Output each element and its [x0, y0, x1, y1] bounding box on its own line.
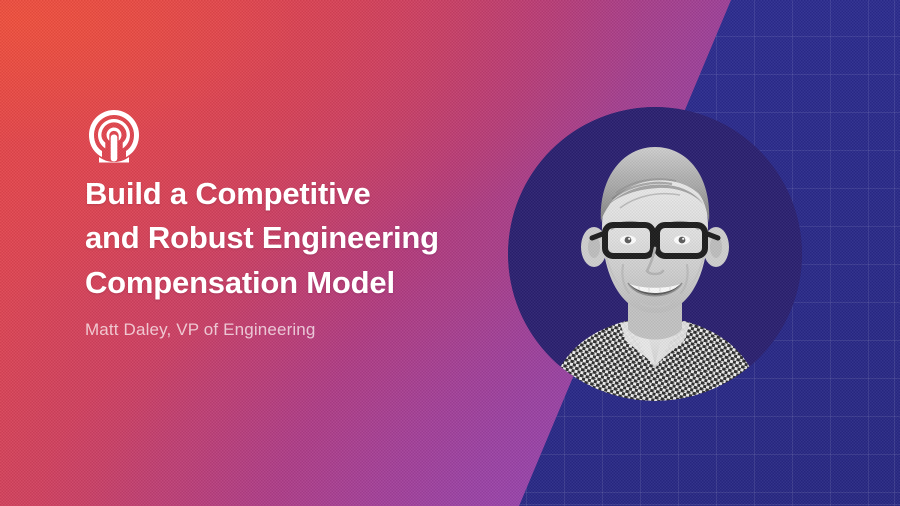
- brand-logo[interactable]: [85, 107, 143, 165]
- webinar-title-banner: Build a Competitive and Robust Engineeri…: [0, 0, 900, 506]
- title-line-2: and Robust Engineering: [85, 216, 495, 260]
- speaker-byline: Matt Daley, VP of Engineering: [85, 320, 316, 340]
- portrait-circle: [508, 107, 802, 401]
- title-line-1: Build a Competitive: [85, 172, 495, 216]
- page-title: Build a Competitive and Robust Engineeri…: [85, 172, 495, 305]
- beacon-broadcast-icon: [89, 110, 139, 163]
- title-line-3: Compensation Model: [85, 261, 495, 305]
- speaker-headshot: [508, 107, 802, 401]
